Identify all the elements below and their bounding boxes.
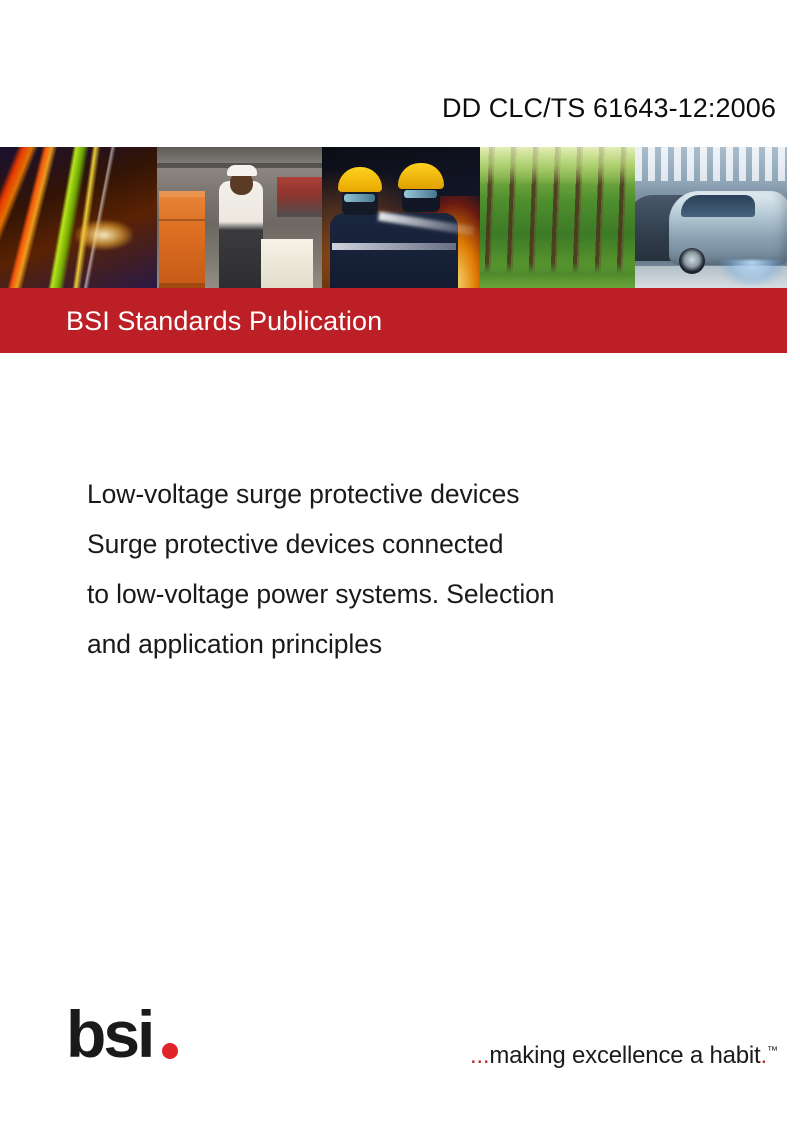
forest-image bbox=[480, 147, 635, 288]
hero-image-strip bbox=[0, 147, 787, 288]
tagline-text: making excellence a habit bbox=[489, 1042, 760, 1069]
car-windscreen-shape bbox=[681, 195, 755, 217]
bsi-logo-dot bbox=[162, 1043, 178, 1059]
document-cover-page: DD CLC/TS 61643-12:2006 bbox=[0, 0, 800, 1132]
standard-number: DD CLC/TS 61643-12:2006 bbox=[442, 92, 776, 124]
warehouse-bins-shape bbox=[277, 177, 322, 217]
firefighter-helmet-a-shape bbox=[338, 167, 382, 192]
tagline-ellipsis: ... bbox=[470, 1042, 489, 1069]
firefighter-visor-a-shape bbox=[344, 194, 375, 202]
worker-cap-shape bbox=[227, 165, 257, 176]
car-headlight-glow-shape bbox=[721, 260, 783, 286]
warehouse-box-shape bbox=[261, 239, 313, 288]
car-assembly-line-image bbox=[635, 147, 787, 288]
bsi-tagline: ...making excellence a habit.™ bbox=[470, 1036, 778, 1071]
publisher-banner: BSI Standards Publication bbox=[0, 288, 787, 353]
title-line-1: Low-voltage surge protective devices bbox=[87, 469, 727, 519]
car-wheel-shape bbox=[679, 248, 705, 274]
night-traffic-light-trails-image bbox=[0, 147, 157, 288]
bsi-logo-icon: bsi bbox=[66, 1005, 196, 1067]
firefighter-helmet-b-shape bbox=[398, 163, 444, 189]
tagline-trademark: ™ bbox=[767, 1045, 778, 1057]
firefighter-visor-b-shape bbox=[404, 190, 437, 198]
page-title: Low-voltage surge protective devices Sur… bbox=[87, 469, 727, 669]
factory-ceiling-shape bbox=[635, 147, 787, 181]
warehouse-crate-shape bbox=[159, 191, 205, 288]
title-line-2: Surge protective devices connected bbox=[87, 519, 727, 569]
forest-canopy-shape bbox=[480, 147, 635, 185]
bsi-logo: bsi bbox=[66, 1005, 196, 1067]
warehouse-worker-image bbox=[157, 147, 322, 288]
svg-text:bsi: bsi bbox=[66, 1005, 152, 1067]
firefighter-reflective-stripe-shape bbox=[332, 243, 456, 250]
title-line-4: and application principles bbox=[87, 619, 727, 669]
title-line-3: to low-voltage power systems. Selection bbox=[87, 569, 727, 619]
firefighters-image bbox=[322, 147, 480, 288]
publisher-banner-label: BSI Standards Publication bbox=[66, 305, 382, 337]
forest-floor-shape bbox=[480, 262, 635, 288]
worker-body-shape bbox=[219, 181, 263, 288]
